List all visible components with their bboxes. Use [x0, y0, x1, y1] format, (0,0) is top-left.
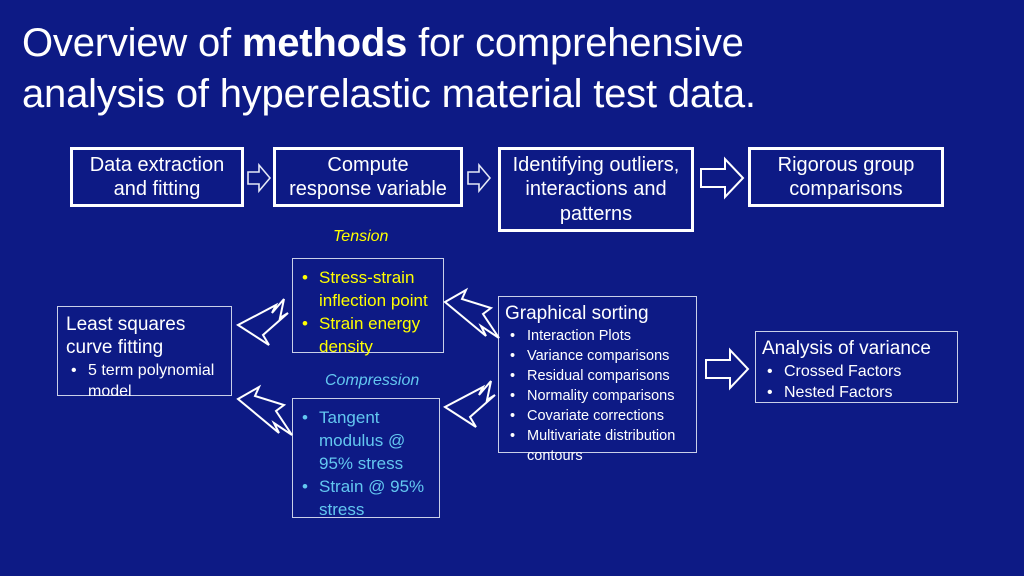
- detail-box-analysis-of-variance-heading: Analysis of variance: [762, 338, 953, 361]
- list-item: Residual comparisons: [505, 366, 692, 386]
- arrow-up-right-icon-least-squares-to-tension: [236, 293, 298, 349]
- process-box-compute-response-line-1: Compute: [327, 153, 408, 177]
- process-box-rigorous-group-line-1: Rigorous group: [778, 153, 915, 177]
- page-title-line-2: analysis of hyperelastic material test d…: [22, 69, 1002, 120]
- process-box-data-extraction-line-2: and fitting: [114, 177, 201, 201]
- slide-canvas: Overview of methods for comprehensive an…: [0, 0, 1024, 576]
- branch-caption-tension: Tension: [333, 228, 388, 246]
- page-title: Overview of methods for comprehensive an…: [22, 18, 1002, 120]
- process-box-identifying-outliers[interactable]: Identifying outliers, interactions and p…: [498, 147, 694, 232]
- detail-box-least-squares-heading-line-2: curve fitting: [66, 337, 225, 360]
- list-item: Strain energy density: [297, 313, 437, 359]
- process-box-identifying-outliers-line-2: interactions and: [525, 177, 666, 201]
- detail-box-least-squares[interactable]: Least squares curve fitting 5 term polyn…: [57, 306, 232, 396]
- detail-box-tension-metrics-bullets: Stress-strain inflection point Strain en…: [297, 267, 437, 359]
- page-title-line-1: Overview of methods for comprehensive: [22, 18, 1002, 69]
- process-box-data-extraction[interactable]: Data extraction and fitting: [70, 147, 244, 207]
- detail-box-analysis-of-variance[interactable]: Analysis of variance Crossed Factors Nes…: [755, 331, 958, 403]
- detail-box-graphical-sorting-heading: Graphical sorting: [505, 303, 692, 326]
- arrow-right-icon-graphical-to-anova: [705, 348, 749, 390]
- page-title-line-1-pre: Overview of: [22, 21, 242, 65]
- branch-caption-compression: Compression: [325, 372, 419, 390]
- process-box-compute-response[interactable]: Compute response variable: [273, 147, 463, 207]
- detail-box-compression-metrics[interactable]: Tangent modulus @ 95% stress Strain @ 95…: [292, 398, 440, 518]
- list-item: Nested Factors: [762, 382, 953, 403]
- detail-box-analysis-of-variance-bullets: Crossed Factors Nested Factors: [762, 361, 953, 404]
- arrow-right-icon-1: [247, 163, 271, 193]
- page-title-line-1-post: for comprehensive: [407, 21, 744, 65]
- list-item: Normality comparisons: [505, 386, 692, 406]
- arrow-right-icon-2: [467, 163, 491, 193]
- process-box-identifying-outliers-line-3: patterns: [560, 202, 632, 226]
- detail-box-graphical-sorting[interactable]: Graphical sorting Interaction Plots Vari…: [498, 296, 697, 453]
- list-item: Multivariate distribution contours: [505, 426, 692, 466]
- detail-box-compression-metrics-bullets: Tangent modulus @ 95% stress Strain @ 95…: [297, 407, 433, 522]
- detail-box-least-squares-heading-line-1: Least squares: [66, 314, 225, 337]
- arrow-up-right-icon-compression-to-graphical: [443, 375, 503, 431]
- list-item: Variance comparisons: [505, 346, 692, 366]
- page-title-emphasis: methods: [242, 21, 407, 65]
- arrow-down-right-icon-tension-to-graphical: [443, 288, 503, 344]
- list-item: Crossed Factors: [762, 361, 953, 382]
- process-box-compute-response-line-2: response variable: [289, 177, 447, 201]
- list-item: Tangent modulus @ 95% stress: [297, 407, 433, 476]
- detail-box-graphical-sorting-bullets: Interaction Plots Variance comparisons R…: [505, 326, 692, 466]
- detail-box-least-squares-bullets: 5 term polynomial model: [66, 360, 225, 403]
- arrow-down-right-icon-least-squares-to-compression: [236, 385, 298, 441]
- list-item: 5 term polynomial model: [66, 360, 225, 403]
- list-item: Covariate corrections: [505, 406, 692, 426]
- list-item: Strain @ 95% stress: [297, 476, 433, 522]
- process-box-data-extraction-line-1: Data extraction: [90, 153, 225, 177]
- process-box-rigorous-group[interactable]: Rigorous group comparisons: [748, 147, 944, 207]
- list-item: Stress-strain inflection point: [297, 267, 437, 313]
- detail-box-tension-metrics[interactable]: Stress-strain inflection point Strain en…: [292, 258, 444, 353]
- process-box-rigorous-group-line-2: comparisons: [789, 177, 902, 201]
- arrow-right-icon-3: [700, 157, 744, 199]
- process-box-identifying-outliers-line-1: Identifying outliers,: [513, 153, 680, 177]
- list-item: Interaction Plots: [505, 326, 692, 346]
